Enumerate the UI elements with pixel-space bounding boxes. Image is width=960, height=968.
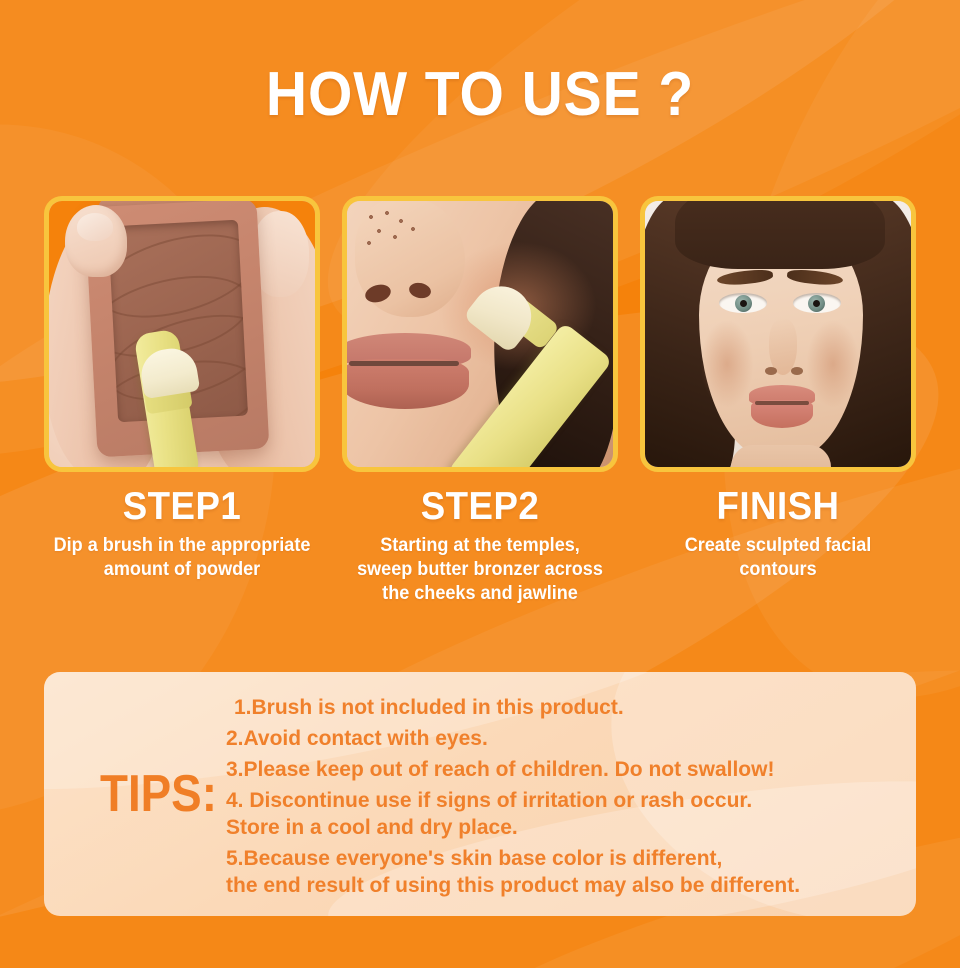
pupil-right: [813, 300, 820, 307]
tips-list-item: 4. Discontinue use if signs of irritatio…: [226, 787, 898, 841]
step-1-description: Dip a brush in the appropriate amount of…: [51, 534, 313, 582]
pupil-left: [740, 300, 747, 307]
step-3-photo-frame: [640, 196, 916, 472]
steps-row: STEP1 Dip a brush in the appropriate amo…: [44, 196, 916, 606]
tips-list-item: 1.Brush is not included in this product.: [226, 694, 898, 721]
tips-label: TIPS:: [100, 768, 217, 820]
step-1-title: STEP1: [52, 486, 311, 528]
nostril-right: [791, 367, 803, 375]
step-3-description: Create sculpted facial contours: [647, 534, 909, 582]
step-2-photo-frame: [342, 196, 618, 472]
hand-holding-bronzer-compact-with-brush-image: [49, 201, 315, 467]
lower-lip-shape: [347, 359, 469, 409]
page-title: HOW TO USE ?: [38, 64, 921, 126]
brush-applying-bronzer-to-cheek-image: [347, 201, 613, 467]
how-to-use-infographic: HOW TO USE ?: [0, 0, 960, 968]
nostril-left: [765, 367, 777, 375]
contour-left: [701, 321, 753, 407]
step-3-title: FINISH: [648, 486, 907, 528]
tips-list-item: 3.Please keep out of reach of children. …: [226, 756, 898, 783]
tips-list-item: 2.Avoid contact with eyes.: [226, 725, 898, 752]
tips-panel: TIPS: 1.Brush is not included in this pr…: [44, 672, 916, 916]
step-item-3: FINISH Create sculpted facial contours: [640, 196, 916, 606]
thumbnail-shape: [77, 213, 113, 241]
tips-list-item: 5.Because everyone's skin base color is …: [226, 845, 898, 899]
step-1-photo-frame: [44, 196, 320, 472]
neck-shape: [731, 445, 831, 467]
model-face-with-sculpted-contour-image: [645, 201, 911, 467]
hair-top-shape: [675, 201, 885, 269]
step-2-title: STEP2: [350, 486, 609, 528]
lip-line: [755, 401, 809, 405]
step-item-1: STEP1 Dip a brush in the appropriate amo…: [44, 196, 320, 606]
freckles: [361, 209, 431, 259]
step-2-description: Starting at the temples, sweep butter br…: [324, 534, 636, 606]
lip-line: [349, 361, 459, 366]
tips-list: 1.Brush is not included in this product.…: [226, 694, 898, 903]
step-item-2: STEP2 Starting at the temples, sweep but…: [342, 196, 618, 606]
